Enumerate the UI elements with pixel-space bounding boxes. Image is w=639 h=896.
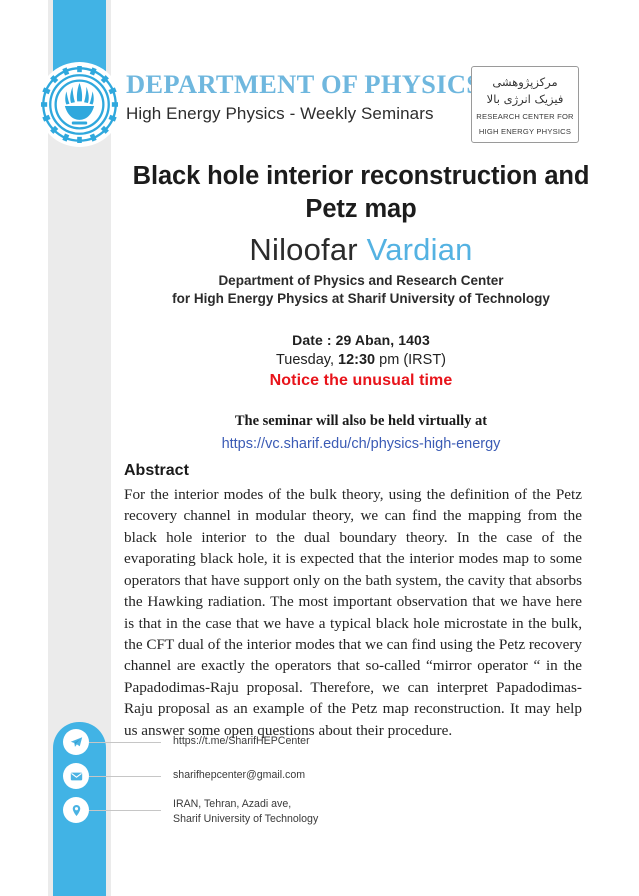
contact-row-address: IRAN, Tehran, Azadi ave, Sharif Universi… — [53, 797, 353, 831]
contact-email-text[interactable]: sharifhepcenter@gmail.com — [173, 768, 305, 783]
connector-line-telegram — [89, 742, 161, 743]
research-center-persian-line-2: فیزیک انرژی بالا — [472, 91, 578, 108]
research-center-english-line-2: HIGH ENERGY PHYSICS — [472, 126, 578, 137]
speaker-affiliation: Department of Physics and Research Cente… — [111, 272, 611, 308]
envelope-icon — [63, 763, 89, 789]
contact-address-text: IRAN, Tehran, Azadi ave, Sharif Universi… — [173, 797, 318, 828]
affiliation-line-1: Department of Physics and Research Cente… — [111, 272, 611, 290]
connector-line-address — [89, 810, 161, 811]
speaker-first-name: Niloofar — [249, 232, 357, 267]
research-center-logo-box: مرکزپژوهشی فیزیک انرژی بالا RESEARCH CEN… — [471, 66, 579, 143]
unusual-time-notice: Notice the unusual time — [111, 372, 611, 390]
sharif-university-gear-emblem-icon — [41, 66, 118, 143]
contact-row-telegram: https://t.me/SharifHEPCenter — [53, 729, 353, 763]
virtual-attendance-block: The seminar will also be held virtually … — [111, 413, 611, 452]
speaker-name: Niloofar Vardian — [111, 232, 611, 268]
abstract-heading: Abstract — [124, 462, 189, 480]
contact-telegram-text[interactable]: https://t.me/SharifHEPCenter — [173, 734, 310, 749]
contact-row-email: sharifhepcenter@gmail.com — [53, 763, 353, 797]
seminar-weekday: Tuesday, — [276, 352, 334, 368]
seminar-clock-time: 12:30 — [338, 352, 375, 368]
seminar-time: Tuesday, 12:30 pm (IRST) — [111, 352, 611, 368]
speaker-last-name: Vardian — [367, 232, 473, 267]
virtual-heading: The seminar will also be held virtually … — [111, 413, 611, 430]
research-center-persian-line-1: مرکزپژوهشی — [472, 74, 578, 91]
affiliation-line-2: for High Energy Physics at Sharif Univer… — [111, 290, 611, 308]
telegram-paper-plane-icon — [63, 729, 89, 755]
abstract-text: For the interior modes of the bulk theor… — [124, 484, 582, 741]
seminar-title: Black hole interior reconstruction and P… — [111, 160, 611, 226]
seminar-date: Date : 29 Aban, 1403 — [111, 332, 611, 348]
seminar-poster: DEPARTMENT OF PHYSICS High Energy Physic… — [0, 0, 639, 896]
virtual-meeting-link[interactable]: https://vc.sharif.edu/ch/physics-high-en… — [111, 436, 611, 452]
research-center-english-line-1: RESEARCH CENTER FOR — [472, 111, 578, 122]
map-pin-icon — [63, 797, 89, 823]
connector-line-email — [89, 776, 161, 777]
seminar-time-suffix: pm (IRST) — [379, 352, 446, 368]
date-time-block: Date : 29 Aban, 1403 Tuesday, 12:30 pm (… — [111, 332, 611, 390]
